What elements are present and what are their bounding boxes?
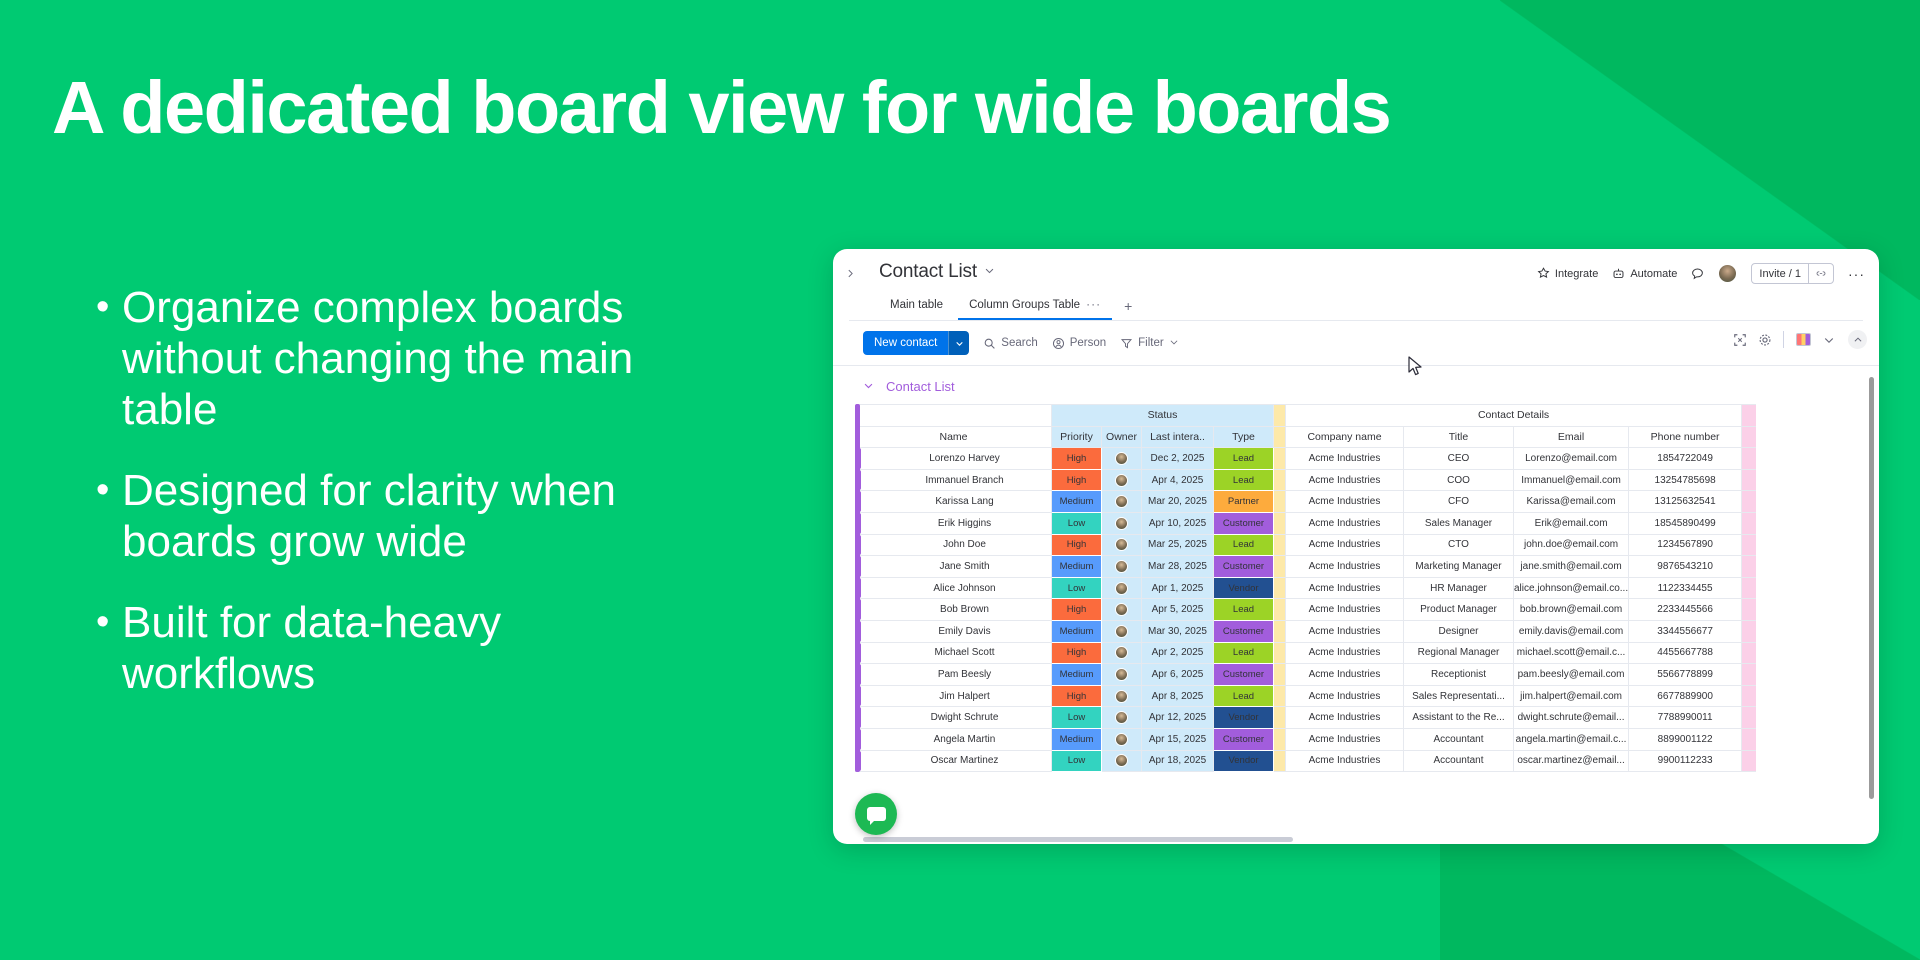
cell-email[interactable]: jim.halpert@email.com (1514, 685, 1629, 707)
cell-email[interactable]: oscar.martinez@email... (1514, 750, 1629, 772)
tab-label: Main table (890, 299, 943, 311)
gear-icon[interactable] (1758, 333, 1771, 346)
avatar[interactable] (1718, 264, 1737, 283)
cell-last-interaction[interactable]: Apr 10, 2025 (1142, 512, 1214, 534)
chevron-down-icon[interactable] (1823, 333, 1836, 346)
cell-name[interactable]: Michael Scott (856, 642, 1052, 664)
cell-last-interaction[interactable]: Mar 25, 2025 (1142, 534, 1214, 556)
table-row[interactable]: Michael ScottHighApr 2, 2025LeadAcme Ind… (856, 642, 1756, 664)
cell-title[interactable]: Marketing Manager (1404, 556, 1514, 578)
cell-email-text: Karissa@email.com (1527, 496, 1616, 507)
cell-trailing-spacer (1742, 469, 1756, 491)
cell-priority[interactable]: High (1052, 534, 1102, 556)
cell-type-text: Lead (1233, 647, 1254, 658)
cell-title[interactable]: Product Manager (1404, 599, 1514, 621)
search-button[interactable]: Search (983, 337, 1037, 350)
cell-last-interaction-text: Apr 6, 2025 (1152, 669, 1204, 680)
cell-title[interactable]: Assistant to the Re... (1404, 707, 1514, 729)
cell-title[interactable]: CFO (1404, 491, 1514, 513)
cell-owner[interactable] (1102, 707, 1142, 729)
table-row[interactable]: Dwight SchruteLowApr 12, 2025VendorAcme … (856, 707, 1756, 729)
cell-type[interactable]: Vendor (1214, 577, 1274, 599)
cell-type-text: Lead (1233, 453, 1254, 464)
cell-type[interactable]: Partner (1214, 491, 1274, 513)
cell-priority[interactable]: Medium (1052, 664, 1102, 686)
cell-title[interactable]: Receptionist (1404, 664, 1514, 686)
cell-email[interactable]: Erik@email.com (1514, 512, 1629, 534)
cell-priority[interactable]: Medium (1052, 728, 1102, 750)
cell-priority-text: Medium (1060, 669, 1094, 680)
cell-phone-number[interactable]: 9876543210 (1629, 556, 1742, 578)
cell-email[interactable]: angela.martin@email.c... (1514, 728, 1629, 750)
cell-company-name-text: Acme Industries (1309, 647, 1381, 658)
cell-name-text: Erik Higgins (938, 518, 991, 529)
cell-name-text: Angela Martin (934, 734, 996, 745)
cell-last-interaction-text: Apr 2, 2025 (1152, 647, 1204, 658)
person-button[interactable]: Person (1052, 337, 1106, 350)
cell-phone-number-text: 1234567890 (1657, 539, 1713, 550)
cell-name[interactable]: Dwight Schrute (856, 707, 1052, 729)
cell-company-name[interactable]: Acme Industries (1286, 599, 1404, 621)
column-header-last-intera[interactable]: Last intera.. (1142, 426, 1214, 448)
cell-title-text: HR Manager (1430, 583, 1487, 594)
cell-company-name-text: Acme Industries (1309, 669, 1381, 680)
column-header-owner[interactable]: Owner (1102, 426, 1142, 448)
cell-name[interactable]: Jane Smith (856, 556, 1052, 578)
cell-type[interactable]: Customer (1214, 556, 1274, 578)
owner-avatar (1115, 711, 1128, 724)
new-contact-button[interactable]: New contact (863, 331, 969, 355)
filter-button[interactable]: Filter (1120, 337, 1179, 350)
cell-email-text: Lorenzo@email.com (1525, 453, 1617, 464)
cell-name[interactable]: Alice Johnson (856, 577, 1052, 599)
mouse-cursor (1408, 356, 1425, 383)
cell-priority-text: Low (1068, 755, 1085, 766)
cell-owner[interactable] (1102, 448, 1142, 470)
cell-phone-number[interactable]: 4455667788 (1629, 642, 1742, 664)
cell-title[interactable]: CTO (1404, 534, 1514, 556)
cell-priority-text: High (1067, 647, 1087, 658)
table-row[interactable]: Pam BeeslyMediumApr 6, 2025CustomerAcme … (856, 664, 1756, 686)
cell-company-name[interactable]: Acme Industries (1286, 750, 1404, 772)
cell-last-interaction[interactable]: Apr 4, 2025 (1142, 469, 1214, 491)
cell-title[interactable]: COO (1404, 469, 1514, 491)
owner-avatar (1115, 495, 1128, 508)
column-header-label: Email (1558, 431, 1584, 443)
cell-owner[interactable] (1102, 685, 1142, 707)
cell-name[interactable]: Angela Martin (856, 728, 1052, 750)
cell-phone-number[interactable]: 1122334455 (1629, 577, 1742, 599)
column-group-header-row: StatusContact Details (856, 405, 1756, 427)
cell-email[interactable]: bob.brown@email.com (1514, 599, 1629, 621)
cell-last-interaction[interactable]: Mar 30, 2025 (1142, 620, 1214, 642)
cell-owner[interactable] (1102, 556, 1142, 578)
cell-email[interactable]: Lorenzo@email.com (1514, 448, 1629, 470)
cell-phone-number-text: 8899001122 (1658, 734, 1713, 745)
cell-priority-text: Low (1068, 712, 1085, 723)
toolbar-divider (1783, 331, 1784, 348)
chevron-up-icon[interactable] (1848, 330, 1867, 349)
cell-owner[interactable] (1102, 664, 1142, 686)
cell-last-interaction-text: Apr 15, 2025 (1149, 734, 1206, 745)
cell-priority[interactable]: Medium (1052, 620, 1102, 642)
cell-phone-number-text: 9900112233 (1658, 755, 1713, 766)
color-grid-icon[interactable] (1796, 333, 1811, 346)
cell-last-interaction[interactable]: Apr 15, 2025 (1142, 728, 1214, 750)
cell-phone-number[interactable]: 7788990011 (1629, 707, 1742, 729)
cell-title-text: CTO (1448, 539, 1469, 550)
cell-phone-number-text: 2233445566 (1657, 604, 1713, 615)
cell-name-text: John Doe (943, 539, 986, 550)
cell-owner[interactable] (1102, 491, 1142, 513)
cell-email[interactable]: pam.beesly@email.com (1514, 664, 1629, 686)
cell-last-interaction[interactable]: Apr 12, 2025 (1142, 707, 1214, 729)
integrate-icon (1537, 267, 1550, 280)
cell-title-text: Regional Manager (1418, 647, 1500, 658)
cell-email-text: pam.beesly@email.com (1518, 669, 1625, 680)
cell-email-text: emily.davis@email.com (1519, 626, 1623, 637)
cell-phone-number-text: 5566778899 (1657, 669, 1713, 680)
cell-email[interactable]: emily.davis@email.com (1514, 620, 1629, 642)
cell-group-spacer (1274, 556, 1286, 578)
column-header-spacer[interactable] (1274, 426, 1286, 448)
owner-avatar (1115, 538, 1128, 551)
cell-phone-number[interactable]: 1234567890 (1629, 534, 1742, 556)
column-header-phone-number[interactable]: Phone number (1629, 426, 1742, 448)
cell-email-text: oscar.martinez@email... (1517, 755, 1624, 766)
column-header-label: Last intera.. (1150, 431, 1205, 443)
table-row[interactable]: Bob BrownHighApr 5, 2025LeadAcme Industr… (856, 599, 1756, 621)
chat-widget-button[interactable] (855, 793, 897, 835)
cell-type-text: Lead (1233, 539, 1254, 550)
cell-email-text: michael.scott@email.c... (1517, 647, 1626, 658)
cell-name-text: Jane Smith (939, 561, 989, 572)
cell-priority-text: Medium (1060, 734, 1094, 745)
cell-priority[interactable]: Medium (1052, 556, 1102, 578)
cell-company-name[interactable]: Acme Industries (1286, 512, 1404, 534)
sidebar-expand-icon[interactable] (841, 264, 859, 282)
board-table: StatusContact Details NamePriorityOwnerL… (855, 404, 1756, 772)
cell-priority-text: Medium (1060, 496, 1094, 507)
cell-name[interactable]: Jim Halpert (856, 685, 1052, 707)
cell-title-text: Marketing Manager (1415, 561, 1501, 572)
cell-owner[interactable] (1102, 620, 1142, 642)
cell-company-name[interactable]: Acme Industries (1286, 664, 1404, 686)
cell-phone-number[interactable]: 6677889900 (1629, 685, 1742, 707)
cell-phone-number[interactable]: 5566778899 (1629, 664, 1742, 686)
cell-email[interactable]: alice.johnson@email.co... (1514, 577, 1629, 599)
cell-phone-number[interactable]: 2233445566 (1629, 599, 1742, 621)
table-row[interactable]: Alice JohnsonLowApr 1, 2025VendorAcme In… (856, 577, 1756, 599)
bullet-marker: • (96, 282, 122, 333)
cell-type[interactable]: Lead (1214, 534, 1274, 556)
cell-phone-number[interactable]: 9900112233 (1629, 750, 1742, 772)
cell-type[interactable]: Vendor (1214, 707, 1274, 729)
cell-email[interactable]: dwight.schrute@email... (1514, 707, 1629, 729)
cell-title-text: Assistant to the Re... (1412, 712, 1504, 723)
cell-trailing-spacer (1742, 512, 1756, 534)
cell-group-spacer (1274, 577, 1286, 599)
cell-email[interactable]: michael.scott@email.c... (1514, 642, 1629, 664)
table-row[interactable]: Jim HalpertHighApr 8, 2025LeadAcme Indus… (856, 685, 1756, 707)
cell-company-name[interactable]: Acme Industries (1286, 448, 1404, 470)
cell-last-interaction[interactable]: Apr 2, 2025 (1142, 642, 1214, 664)
cell-title[interactable]: Regional Manager (1404, 642, 1514, 664)
cell-trailing-spacer (1742, 642, 1756, 664)
cell-email[interactable]: jane.smith@email.com (1514, 556, 1629, 578)
column-header-spacer[interactable] (1742, 426, 1756, 448)
cell-phone-number-text: 6677889900 (1657, 691, 1713, 702)
cell-company-name[interactable]: Acme Industries (1286, 534, 1404, 556)
cell-owner[interactable] (1102, 512, 1142, 534)
cell-phone-number-text: 1854722049 (1657, 453, 1713, 464)
cell-phone-number[interactable]: 8899001122 (1629, 728, 1742, 750)
cell-name-text: Jim Halpert (939, 691, 990, 702)
speech-bubble-icon[interactable] (1691, 267, 1704, 280)
cell-phone-number-text: 4455667788 (1657, 647, 1713, 658)
expand-icon[interactable] (1733, 333, 1746, 346)
integrate-button[interactable]: Integrate (1537, 267, 1598, 280)
cell-name[interactable]: Emily Davis (856, 620, 1052, 642)
cell-phone-number[interactable]: 13125632541 (1629, 491, 1742, 513)
cell-company-name[interactable]: Acme Industries (1286, 577, 1404, 599)
cell-company-name[interactable]: Acme Industries (1286, 728, 1404, 750)
table-row[interactable]: Erik HigginsLowApr 10, 2025CustomerAcme … (856, 512, 1756, 534)
table-row[interactable]: John DoeHighMar 25, 2025LeadAcme Industr… (856, 534, 1756, 556)
cell-type-text: Lead (1233, 604, 1254, 615)
cell-phone-number[interactable]: 18545890499 (1629, 512, 1742, 534)
cell-email[interactable]: Immanuel@email.com (1514, 469, 1629, 491)
table-row[interactable]: Oscar MartinezLowApr 18, 2025VendorAcme … (856, 750, 1756, 772)
toolbar-right-actions (1733, 330, 1867, 349)
cell-type[interactable]: Customer (1214, 512, 1274, 534)
group-header[interactable]: Contact List (833, 366, 1879, 404)
cell-company-name-text: Acme Industries (1309, 453, 1381, 464)
cell-title[interactable]: Accountant (1404, 728, 1514, 750)
cell-group-spacer (1274, 599, 1286, 621)
tab-column-groups-table[interactable]: Column Groups Table··· (958, 292, 1112, 320)
cell-name-text: Pam Beesly (938, 669, 991, 680)
tab-overflow-icon[interactable]: ··· (1086, 297, 1101, 311)
cell-priority-text: High (1067, 539, 1087, 550)
filter-label: Filter (1138, 337, 1164, 349)
cell-type[interactable]: Customer (1214, 728, 1274, 750)
cell-owner[interactable] (1102, 728, 1142, 750)
cell-email-text: alice.johnson@email.co... (1514, 583, 1628, 594)
cell-title[interactable]: Sales Representati... (1404, 685, 1514, 707)
filter-caret-icon[interactable] (1169, 337, 1179, 350)
cell-name[interactable]: Lorenzo Harvey (856, 448, 1052, 470)
cell-email[interactable]: Karissa@email.com (1514, 491, 1629, 513)
cell-type[interactable]: Customer (1214, 620, 1274, 642)
cell-trailing-spacer (1742, 664, 1756, 686)
cell-title-text: Product Manager (1420, 604, 1497, 615)
cell-trailing-spacer (1742, 491, 1756, 513)
cell-priority-text: High (1067, 691, 1087, 702)
cell-title-text: CEO (1448, 453, 1470, 464)
cell-trailing-spacer (1742, 448, 1756, 470)
cell-last-interaction[interactable]: Apr 5, 2025 (1142, 599, 1214, 621)
cell-trailing-spacer (1742, 728, 1756, 750)
robot-icon (1612, 267, 1625, 280)
cell-name-text: Dwight Schrute (931, 712, 999, 723)
owner-avatar (1115, 646, 1128, 659)
owner-avatar (1115, 625, 1128, 638)
horizontal-scrollbar[interactable] (863, 837, 1293, 842)
cell-priority[interactable]: Low (1052, 707, 1102, 729)
cell-title-text: Sales Representati... (1412, 691, 1505, 702)
cell-name[interactable]: Immanuel Branch (856, 469, 1052, 491)
cell-company-name-text: Acme Industries (1309, 496, 1381, 507)
new-contact-caret-icon[interactable] (948, 331, 969, 355)
cell-name-text: Lorenzo Harvey (929, 453, 1000, 464)
cell-last-interaction[interactable]: Apr 6, 2025 (1142, 664, 1214, 686)
cell-type[interactable]: Lead (1214, 642, 1274, 664)
board-toolbar: New contact Search Person Filter (833, 321, 1879, 366)
owner-avatar (1115, 733, 1128, 746)
cell-title-text: Accountant (1433, 734, 1483, 745)
column-header-email[interactable]: Email (1514, 426, 1629, 448)
cell-type[interactable]: Vendor (1214, 750, 1274, 772)
bullet-text: Designed for clarity when boards grow wi… (122, 465, 706, 567)
cell-phone-number[interactable]: 1854722049 (1629, 448, 1742, 470)
cell-last-interaction-text: Apr 1, 2025 (1152, 583, 1204, 594)
column-header-company-name[interactable]: Company name (1286, 426, 1404, 448)
cell-company-name[interactable]: Acme Industries (1286, 642, 1404, 664)
column-group-status: Status (1052, 405, 1274, 427)
cell-type[interactable]: Customer (1214, 664, 1274, 686)
column-header-label: Phone number (1651, 431, 1720, 443)
cell-type-text: Customer (1223, 669, 1264, 680)
cell-last-interaction-text: Apr 5, 2025 (1152, 604, 1204, 615)
cell-priority[interactable]: Low (1052, 577, 1102, 599)
cell-owner[interactable] (1102, 642, 1142, 664)
cell-priority[interactable]: Medium (1052, 491, 1102, 513)
cell-name[interactable]: Oscar Martinez (856, 750, 1052, 772)
bullet-text: Built for data-heavy workflows (122, 597, 706, 699)
table-row[interactable]: Karissa LangMediumMar 20, 2025PartnerAcm… (856, 491, 1756, 513)
board-overflow-menu[interactable]: ··· (1848, 270, 1865, 278)
cell-company-name[interactable]: Acme Industries (1286, 685, 1404, 707)
tab-main-table[interactable]: Main table (879, 294, 954, 318)
cell-last-interaction[interactable]: Mar 20, 2025 (1142, 491, 1214, 513)
cell-name[interactable]: Bob Brown (856, 599, 1052, 621)
cell-group-spacer (1274, 685, 1286, 707)
cell-company-name[interactable]: Acme Industries (1286, 556, 1404, 578)
cell-priority[interactable]: High (1052, 599, 1102, 621)
cell-owner[interactable] (1102, 599, 1142, 621)
cell-title[interactable]: Accountant (1404, 750, 1514, 772)
cell-title-text: Designer (1438, 626, 1478, 637)
group-collapse-icon[interactable] (863, 380, 874, 394)
cell-priority[interactable]: Low (1052, 750, 1102, 772)
cell-email-text: Immanuel@email.com (1521, 475, 1621, 486)
column-header-type[interactable]: Type (1214, 426, 1274, 448)
owner-avatar (1115, 754, 1128, 767)
cell-priority[interactable]: High (1052, 469, 1102, 491)
cell-last-interaction[interactable]: Dec 2, 2025 (1142, 448, 1214, 470)
cell-trailing-spacer (1742, 599, 1756, 621)
cell-name-text: Alice Johnson (933, 583, 995, 594)
cell-last-interaction[interactable]: Apr 18, 2025 (1142, 750, 1214, 772)
table-row[interactable]: Immanuel BranchHighApr 4, 2025LeadAcme I… (856, 469, 1756, 491)
cell-priority[interactable]: High (1052, 448, 1102, 470)
link-icon[interactable] (1808, 264, 1833, 283)
cell-last-interaction[interactable]: Apr 1, 2025 (1142, 577, 1214, 599)
cell-last-interaction-text: Apr 8, 2025 (1152, 691, 1204, 702)
cell-owner[interactable] (1102, 534, 1142, 556)
invite-button[interactable]: Invite / 1 (1751, 263, 1834, 284)
column-header-name[interactable]: Name (856, 426, 1052, 448)
cell-type-text: Customer (1223, 518, 1264, 529)
owner-avatar (1115, 603, 1128, 616)
cell-title[interactable]: CEO (1404, 448, 1514, 470)
cell-priority[interactable]: High (1052, 685, 1102, 707)
automate-button[interactable]: Automate (1612, 267, 1677, 280)
column-header-priority[interactable]: Priority (1052, 426, 1102, 448)
cell-name[interactable]: Erik Higgins (856, 512, 1052, 534)
cell-name[interactable]: Pam Beesly (856, 664, 1052, 686)
cell-last-interaction[interactable]: Apr 8, 2025 (1142, 685, 1214, 707)
cell-title[interactable]: Designer (1404, 620, 1514, 642)
chevron-down-icon[interactable] (984, 265, 995, 279)
group-color-bar (855, 404, 860, 772)
cell-priority[interactable]: Low (1052, 512, 1102, 534)
vertical-scrollbar[interactable] (1869, 377, 1874, 799)
cell-email-text: dwight.schrute@email... (1518, 712, 1625, 723)
owner-avatar (1115, 690, 1128, 703)
cell-name[interactable]: Karissa Lang (856, 491, 1052, 513)
cell-type[interactable]: Lead (1214, 685, 1274, 707)
cell-company-name[interactable]: Acme Industries (1286, 620, 1404, 642)
cell-company-name[interactable]: Acme Industries (1286, 491, 1404, 513)
cell-trailing-spacer (1742, 534, 1756, 556)
cell-type[interactable]: Lead (1214, 469, 1274, 491)
column-header-title[interactable]: Title (1404, 426, 1514, 448)
cell-owner[interactable] (1102, 577, 1142, 599)
column-group-label: Status (1148, 409, 1178, 421)
cell-last-interaction-text: Mar 30, 2025 (1148, 626, 1207, 637)
cell-type[interactable]: Lead (1214, 448, 1274, 470)
cell-phone-number[interactable]: 3344556677 (1629, 620, 1742, 642)
cell-last-interaction[interactable]: Mar 28, 2025 (1142, 556, 1214, 578)
filter-icon (1120, 337, 1133, 350)
cell-email-text: angela.martin@email.c... (1516, 734, 1627, 745)
table-row[interactable]: Jane SmithMediumMar 28, 2025CustomerAcme… (856, 556, 1756, 578)
cell-email[interactable]: john.doe@email.com (1514, 534, 1629, 556)
cell-phone-number[interactable]: 13254785698 (1629, 469, 1742, 491)
cell-name[interactable]: John Doe (856, 534, 1052, 556)
column-header-label: Title (1449, 431, 1468, 443)
board-table-wrapper: StatusContact Details NamePriorityOwnerL… (833, 404, 1879, 772)
cell-priority[interactable]: High (1052, 642, 1102, 664)
table-row[interactable]: Angela MartinMediumApr 15, 2025CustomerA… (856, 728, 1756, 750)
cell-company-name[interactable]: Acme Industries (1286, 469, 1404, 491)
cell-company-name[interactable]: Acme Industries (1286, 707, 1404, 729)
cell-phone-number-text: 13125632541 (1655, 496, 1716, 507)
cell-type[interactable]: Lead (1214, 599, 1274, 621)
cell-name-text: Karissa Lang (935, 496, 993, 507)
cell-type-text: Partner (1228, 496, 1259, 507)
table-row[interactable]: Emily DavisMediumMar 30, 2025CustomerAcm… (856, 620, 1756, 642)
cell-title[interactable]: HR Manager (1404, 577, 1514, 599)
board-title: Contact List (879, 261, 977, 283)
cell-owner[interactable] (1102, 750, 1142, 772)
cell-title[interactable]: Sales Manager (1404, 512, 1514, 534)
add-tab-button[interactable]: + (1116, 294, 1140, 318)
table-row[interactable]: Lorenzo HarveyHighDec 2, 2025LeadAcme In… (856, 448, 1756, 470)
cell-owner[interactable] (1102, 469, 1142, 491)
